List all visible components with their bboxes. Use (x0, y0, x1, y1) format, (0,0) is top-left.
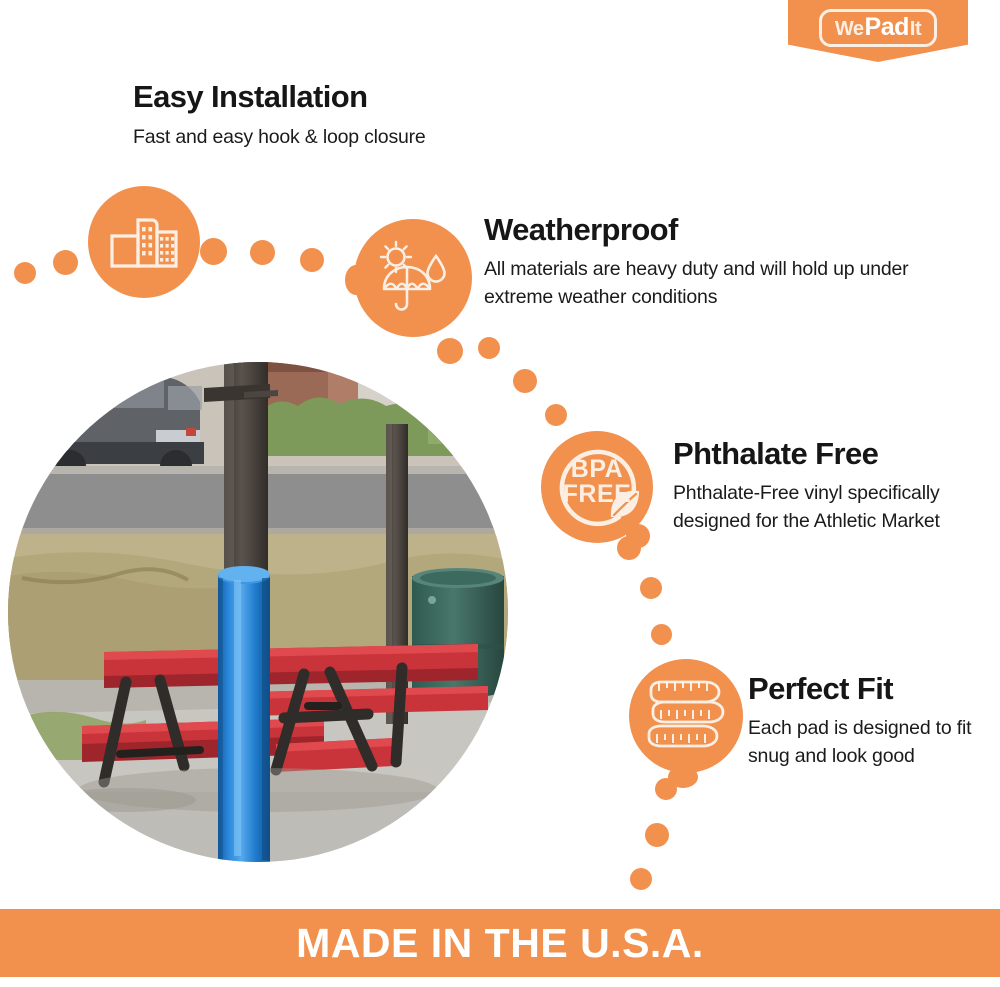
connector-dot (545, 404, 567, 426)
made-in-usa-text: MADE IN THE U.S.A. (296, 920, 704, 967)
feature-title-easy-installation: Easy Installation (133, 80, 426, 114)
icon-circle-easy-installation (88, 186, 200, 298)
product-photo (8, 362, 508, 862)
feature-description-phthalate-free: Phthalate-Free vinyl specifically design… (673, 479, 973, 536)
connector-dot (14, 262, 36, 284)
icon-circle-perfect-fit (629, 659, 743, 773)
connector-dot (640, 577, 662, 599)
icon-blob-accent (668, 766, 698, 788)
connector-dot (478, 337, 500, 359)
icon-circle-weatherproof (354, 219, 472, 337)
connector-dot (630, 868, 652, 890)
brand-logo-text-pad: Pad (865, 15, 909, 40)
brand-logo-text-it: It (910, 19, 921, 39)
brand-logo-outline: We Pad It (819, 9, 937, 47)
feature-description-perfect-fit: Each pad is designed to fit snug and loo… (748, 714, 980, 771)
measuring-tape-icon (643, 676, 729, 756)
feature-title-phthalate-free: Phthalate Free (673, 437, 973, 471)
feature-block-easy-installation: Easy Installation Fast and easy hook & l… (133, 80, 426, 151)
infographic-page: We Pad It Easy Installation Fast and eas… (0, 0, 1000, 987)
feature-title-weatherproof: Weatherproof (484, 213, 914, 247)
connector-dot (250, 240, 275, 265)
feature-description-weatherproof: All materials are heavy duty and will ho… (484, 255, 914, 312)
feature-description-easy-installation: Fast and easy hook & loop closure (133, 123, 426, 151)
made-in-usa-banner: MADE IN THE U.S.A. (0, 909, 1000, 977)
bpa-icon-text-line1: BPA (541, 458, 653, 482)
connector-dot (645, 823, 669, 847)
icon-blob-accent (626, 524, 650, 548)
connector-dot (53, 250, 78, 275)
building-icon (108, 210, 180, 274)
connector-dot (300, 248, 324, 272)
bpa-icon-text-line2: FREE (541, 483, 653, 507)
icon-blob-accent (437, 283, 459, 317)
brand-logo-text-we: We (835, 19, 864, 39)
connector-dot (513, 369, 537, 393)
connector-dot (651, 624, 672, 645)
icon-blob-accent (345, 265, 367, 295)
connector-dot (200, 238, 227, 265)
feature-block-weatherproof: Weatherproof All materials are heavy dut… (484, 213, 914, 312)
feature-block-perfect-fit: Perfect Fit Each pad is designed to fit … (748, 672, 980, 771)
feature-title-perfect-fit: Perfect Fit (748, 672, 980, 706)
connector-dot (437, 338, 463, 364)
brand-logo-badge: We Pad It (788, 0, 968, 62)
feature-block-phthalate-free: Phthalate Free Phthalate-Free vinyl spec… (673, 437, 973, 536)
